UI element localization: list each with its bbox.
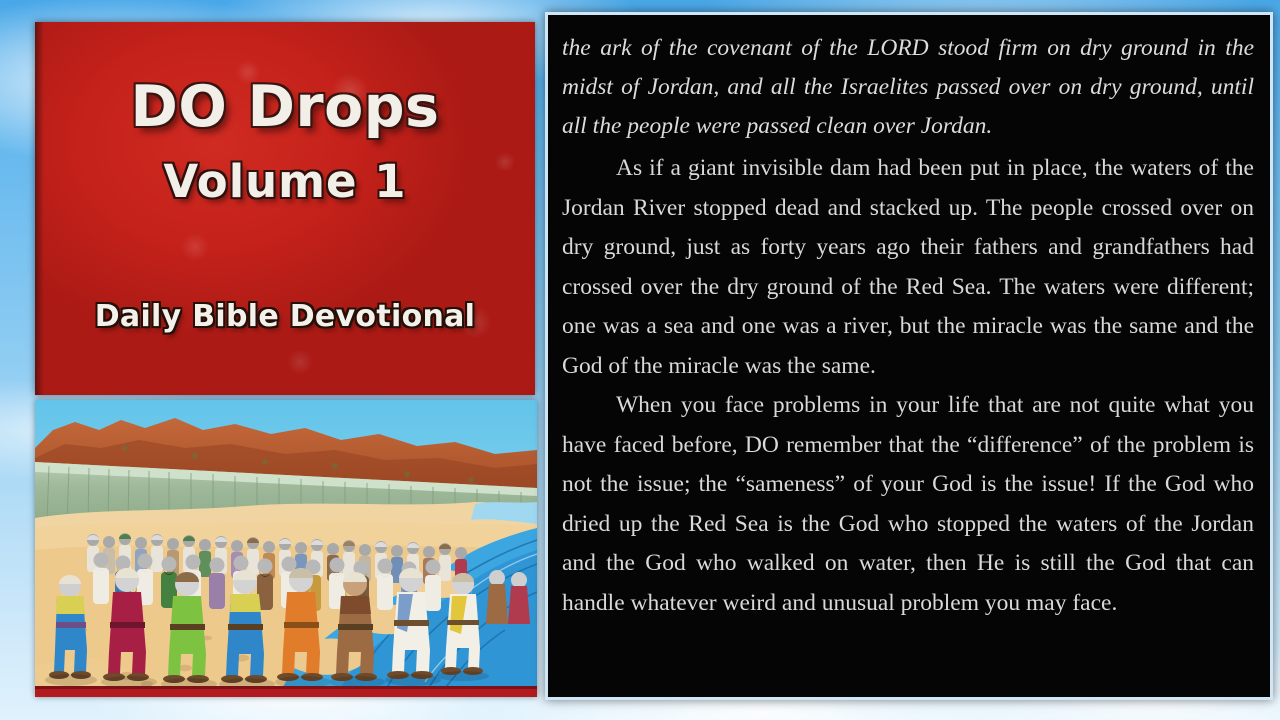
- book-title: DO Drops: [35, 74, 535, 140]
- book-volume: Volume 1: [35, 155, 535, 208]
- jordan-crossing-illustration: [35, 400, 537, 697]
- devotional-paragraph-2: When you face problems in your life that…: [562, 386, 1254, 623]
- devotional-text-panel: the ark of the covenant of the LORD stoo…: [545, 12, 1273, 700]
- book-subtitle: Daily Bible Devotional: [35, 299, 535, 334]
- scripture-quote: the ark of the covenant of the LORD stoo…: [562, 29, 1254, 146]
- illustration-artwork: [35, 400, 537, 697]
- book-cover-image: DO Drops Volume 1 Daily Bible Devotional: [35, 22, 535, 395]
- devotional-paragraph-1: As if a giant invisible dam had been put…: [562, 149, 1254, 386]
- slide-stage: DO Drops Volume 1 Daily Bible Devotional: [0, 0, 1280, 720]
